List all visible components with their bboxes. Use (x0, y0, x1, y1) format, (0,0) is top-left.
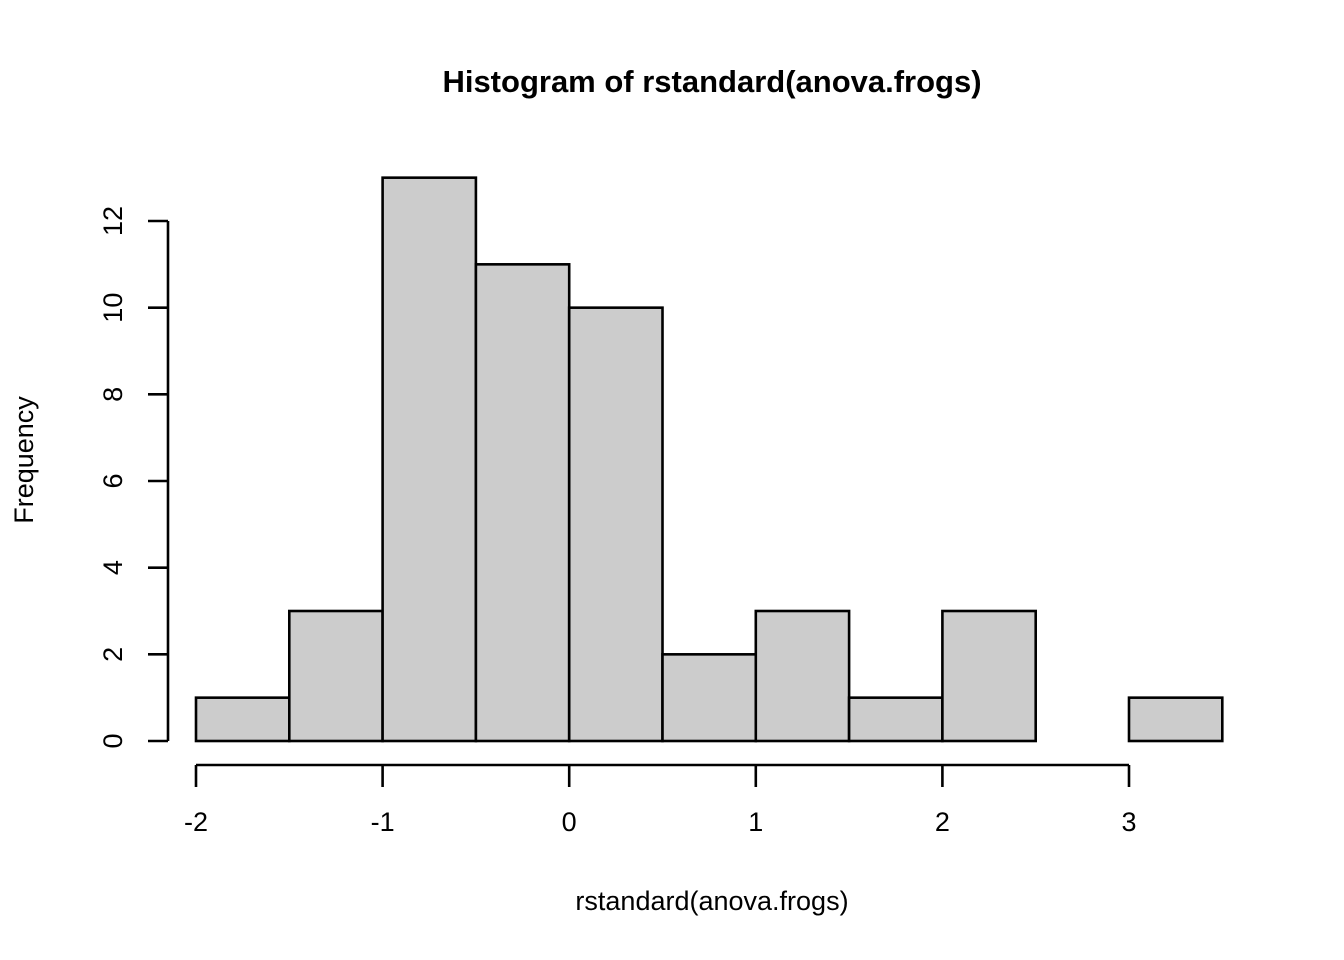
histogram-bar (849, 698, 942, 741)
y-axis-tick-label: 10 (98, 293, 128, 323)
x-axis-tick-label: 1 (748, 807, 763, 837)
x-axis-tick-label: 2 (935, 807, 950, 837)
histogram-bar (196, 698, 289, 741)
histogram-plot-panel: Histogram of rstandard(anova.frogs) 0246… (0, 0, 1344, 960)
x-axis-tick-label: -1 (371, 807, 395, 837)
histogram-bar (569, 308, 662, 741)
x-axis-tick-label: 3 (1121, 807, 1136, 837)
histogram-bar (942, 611, 1035, 741)
histogram-svg-canvas: Histogram of rstandard(anova.frogs) 0246… (0, 0, 1344, 960)
y-axis-tick-label: 12 (98, 206, 128, 236)
y-axis-tick-label: 2 (98, 647, 128, 662)
histogram-bar (383, 178, 476, 741)
histogram-bar (476, 264, 569, 741)
y-axis-label: Frequency (9, 396, 39, 524)
histogram-bar (1129, 698, 1222, 741)
x-axis-label: rstandard(anova.frogs) (575, 886, 848, 916)
y-axis-tick-label: 4 (98, 560, 128, 575)
histogram-bar (663, 654, 756, 741)
chart-title: Histogram of rstandard(anova.frogs) (442, 64, 981, 99)
histogram-bar (289, 611, 382, 741)
histogram-bar (756, 611, 849, 741)
y-axis-tick-label: 8 (98, 387, 128, 402)
x-axis-tick-label: 0 (562, 807, 577, 837)
y-axis-tick-label: 0 (98, 733, 128, 748)
x-axis-tick-label: -2 (184, 807, 208, 837)
y-axis-tick-label: 6 (98, 473, 128, 488)
